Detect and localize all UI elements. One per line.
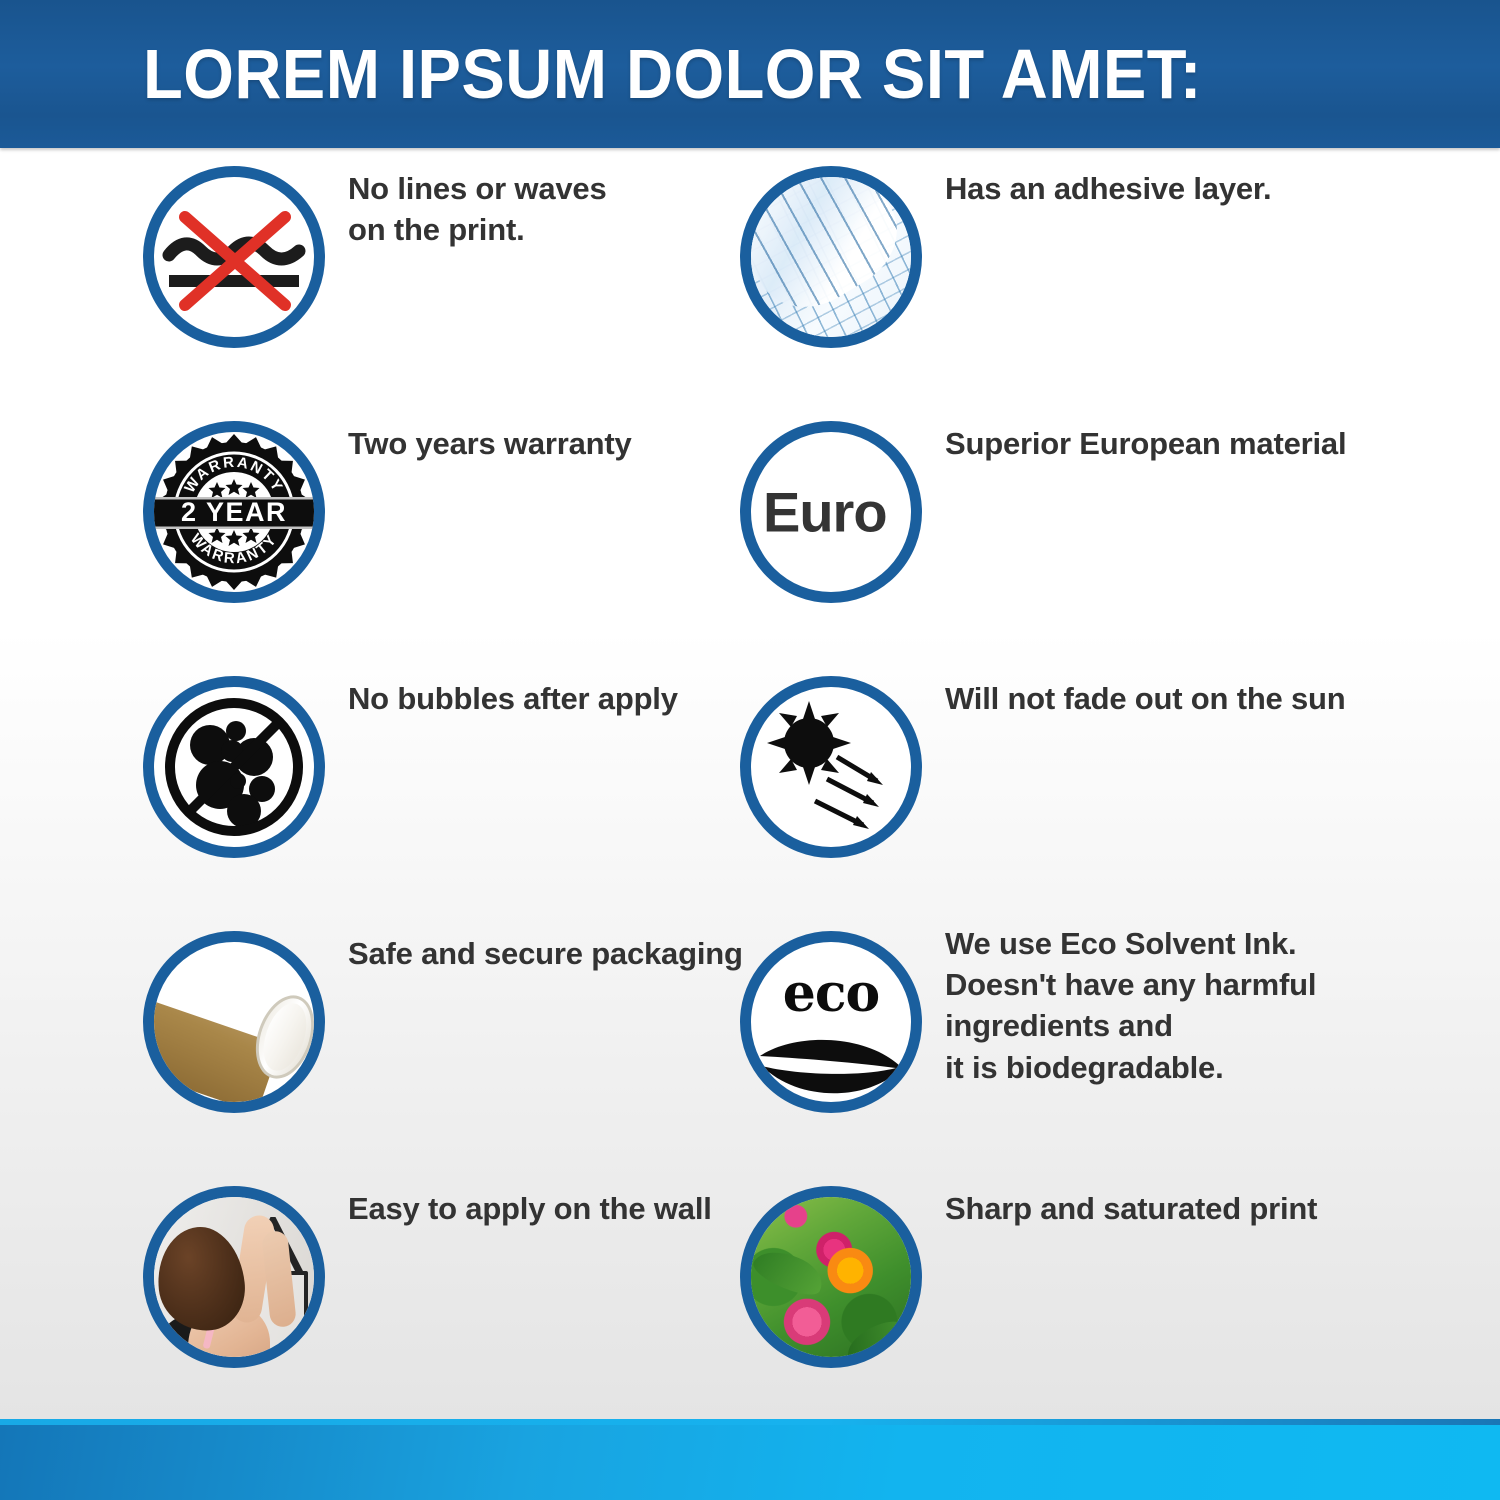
caption-line: Doesn't have any harmful bbox=[945, 964, 1500, 1005]
feature-caption: We use Eco Solvent Ink. Doesn't have any… bbox=[945, 923, 1500, 1088]
svg-text:2 YEAR: 2 YEAR bbox=[181, 497, 287, 527]
feature-item-safe-packaging: Safe and secure packaging bbox=[143, 913, 743, 1168]
warranty-seal-graphic: WARRANTY WARRANTY bbox=[154, 432, 314, 592]
feature-row: No lines or waves on the print. Has an a… bbox=[0, 148, 1500, 403]
footer-sheen bbox=[0, 1419, 1500, 1425]
caption-line: Has an adhesive layer. bbox=[945, 168, 1500, 209]
page-title: LOREM IPSUM DOLOR SIT AMET: bbox=[143, 34, 1202, 114]
page-footer bbox=[0, 1422, 1500, 1500]
infographic-page: LOREM IPSUM DOLOR SIT AMET: bbox=[0, 0, 1500, 1500]
feature-item-superior-european-material: Euro Superior European material bbox=[740, 403, 1460, 658]
no-lines-waves-icon bbox=[143, 166, 325, 348]
sun-rays-icon bbox=[740, 676, 922, 858]
caption-line: it is biodegradable. bbox=[945, 1047, 1500, 1088]
feature-caption: Will not fade out on the sun bbox=[945, 678, 1500, 719]
page-header: LOREM IPSUM DOLOR SIT AMET: bbox=[0, 0, 1500, 148]
caption-line: ingredients and bbox=[945, 1005, 1500, 1046]
feature-item-adhesive-layer: Has an adhesive layer. bbox=[740, 148, 1460, 403]
feature-caption: Superior European material bbox=[945, 423, 1500, 464]
sun-rays-graphic bbox=[751, 687, 911, 847]
caption-line: We use Eco Solvent Ink. bbox=[945, 923, 1500, 964]
woman-applying-wall-photo bbox=[143, 1186, 325, 1368]
euro-icon: Euro bbox=[740, 421, 922, 603]
no-bubbles-graphic bbox=[154, 687, 314, 847]
feature-row: WARRANTY WARRANTY bbox=[0, 403, 1500, 658]
mailing-tube-icon bbox=[143, 931, 325, 1113]
feature-item-two-years-warranty: WARRANTY WARRANTY bbox=[143, 403, 743, 658]
feature-item-sharp-saturated-print: Sharp and saturated print bbox=[740, 1168, 1460, 1423]
caption-line: Will not fade out on the sun bbox=[945, 678, 1500, 719]
caption-line: Sharp and saturated print bbox=[945, 1188, 1500, 1229]
feature-item-no-fade-sun: Will not fade out on the sun bbox=[740, 658, 1460, 913]
wave-crossed-out-graphic bbox=[159, 197, 309, 317]
no-bubbles-icon bbox=[143, 676, 325, 858]
feature-caption: Sharp and saturated print bbox=[945, 1188, 1500, 1229]
eco-leaf-icon: eco bbox=[740, 931, 922, 1113]
adhesive-film-icon bbox=[740, 166, 922, 348]
flowers-photo bbox=[740, 1186, 922, 1368]
caption-line: Superior European material bbox=[945, 423, 1500, 464]
feature-item-easy-to-apply: Easy to apply on the wall bbox=[143, 1168, 743, 1423]
feature-row: Safe and secure packaging eco We use Eco… bbox=[0, 913, 1500, 1168]
feature-caption: Has an adhesive layer. bbox=[945, 168, 1500, 209]
leaf-graphic bbox=[756, 1028, 906, 1102]
warranty-seal-icon: WARRANTY WARRANTY bbox=[143, 421, 325, 603]
eco-label: eco bbox=[783, 968, 879, 1020]
euro-label: Euro bbox=[763, 480, 887, 545]
feature-item-no-lines-waves: No lines or waves on the print. bbox=[143, 148, 743, 403]
feature-item-eco-solvent-ink: eco We use Eco Solvent Ink. Doesn't have… bbox=[740, 913, 1460, 1168]
feature-row: Easy to apply on the wall Sharp and satu… bbox=[0, 1168, 1500, 1423]
feature-grid: No lines or waves on the print. Has an a… bbox=[0, 148, 1500, 1425]
feature-item-no-bubbles: No bubbles after apply bbox=[143, 658, 743, 913]
feature-row: No bubbles after apply bbox=[0, 658, 1500, 913]
